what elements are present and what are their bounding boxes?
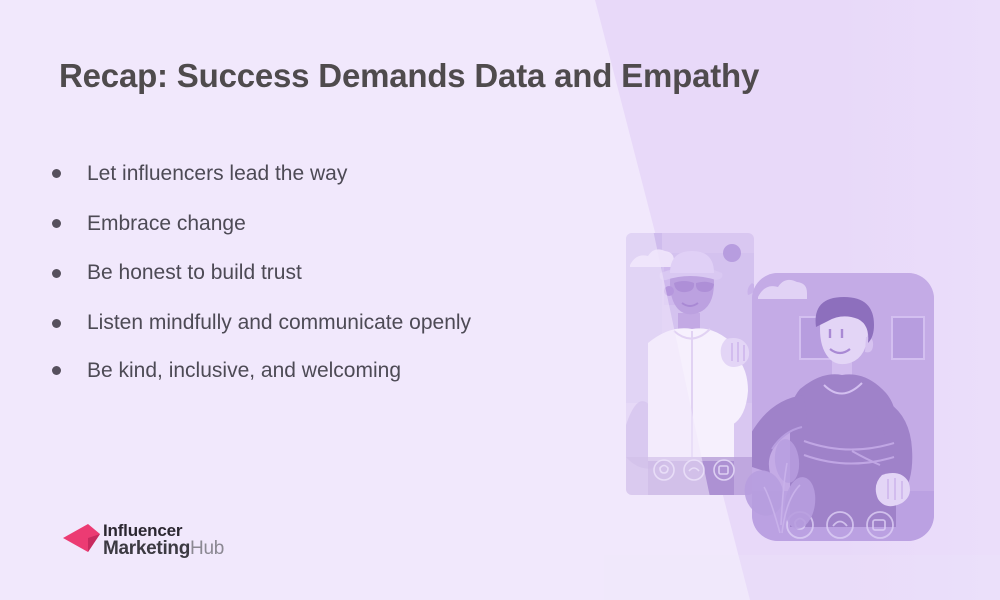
bullet-marker-icon: [52, 366, 61, 375]
logo-line-marketinghub: MarketingHub: [103, 539, 224, 558]
logo-word-hub: Hub: [190, 538, 224, 559]
page-title: Recap: Success Demands Data and Empathy: [59, 56, 859, 96]
bullet-marker-icon: [52, 219, 61, 228]
list-item-label: Listen mindfully and communicate openly: [87, 309, 471, 337]
slide-canvas: Recap: Success Demands Data and Empathy …: [0, 0, 1000, 600]
logo-wordmark: Influencer MarketingHub: [103, 522, 224, 559]
list-item: Be kind, inclusive, and welcoming: [52, 357, 572, 385]
list-item-label: Be kind, inclusive, and welcoming: [87, 357, 401, 385]
bullet-marker-icon: [52, 169, 61, 178]
recap-bullet-list: Let influencers lead the way Embrace cha…: [52, 160, 572, 407]
list-item-label: Be honest to build trust: [87, 259, 302, 287]
list-item-label: Embrace change: [87, 210, 246, 238]
bullet-marker-icon: [52, 269, 61, 278]
bullet-marker-icon: [52, 319, 61, 328]
list-item-label: Let influencers lead the way: [87, 160, 347, 188]
sun-dot: [723, 244, 741, 262]
influencer-marketing-hub-logo[interactable]: Influencer MarketingHub: [62, 520, 224, 560]
two-people-video-call-illustration: [604, 225, 1000, 600]
list-item: Let influencers lead the way: [52, 160, 572, 188]
list-item: Listen mindfully and communicate openly: [52, 309, 572, 337]
list-item: Be honest to build trust: [52, 259, 572, 287]
list-item: Embrace change: [52, 210, 572, 238]
logo-line-influencer: Influencer: [103, 522, 224, 539]
logo-word-marketing: Marketing: [103, 538, 190, 559]
influencer-marketing-hub-arrow-mark: [62, 520, 100, 560]
